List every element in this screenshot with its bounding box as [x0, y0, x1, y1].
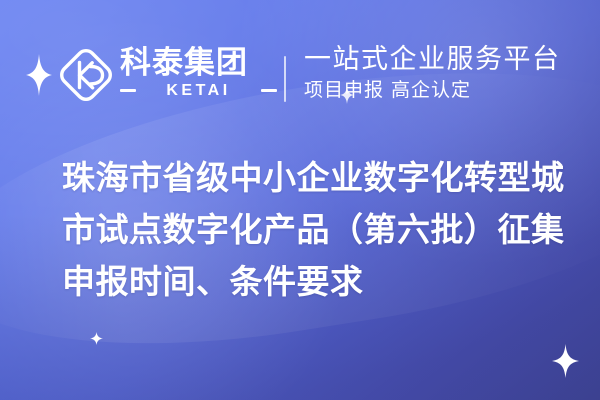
- banner-header: 科泰集团 KETAI 一站式企业服务平台 项目申报 高企认定: [0, 40, 600, 110]
- vertical-divider: [284, 56, 286, 102]
- diamond-sparkle-icon: [90, 332, 103, 345]
- promo-banner: 科泰集团 KETAI 一站式企业服务平台 项目申报 高企认定 珠海市省级中小企业…: [0, 0, 600, 400]
- logo-company-name-en: KETAI: [141, 82, 256, 99]
- logo-rule-right: [261, 89, 277, 92]
- four-point-star-icon: [552, 344, 579, 378]
- logo-wordmark: 科泰集团 KETAI: [120, 46, 280, 99]
- logo-rule-left: [120, 89, 136, 92]
- logo-company-name-cn: 科泰集团: [120, 46, 280, 80]
- banner-title: 珠海市省级中小企业数字化转型城 市试点数字化产品（第六批）征集 申报时间、条件要…: [62, 152, 567, 308]
- tagline-primary: 一站式企业服务平台: [304, 44, 584, 76]
- title-line-1: 珠海市省级中小企业数字化转型城: [62, 152, 567, 204]
- four-point-star-icon: [340, 86, 354, 104]
- logo-company-name-en-row: KETAI: [120, 82, 277, 99]
- four-point-star-icon: [26, 54, 52, 96]
- ketai-diamond-kd-monogram-icon: [57, 46, 115, 104]
- title-line-3: 申报时间、条件要求: [62, 256, 567, 308]
- title-line-2: 市试点数字化产品（第六批）征集: [62, 204, 567, 256]
